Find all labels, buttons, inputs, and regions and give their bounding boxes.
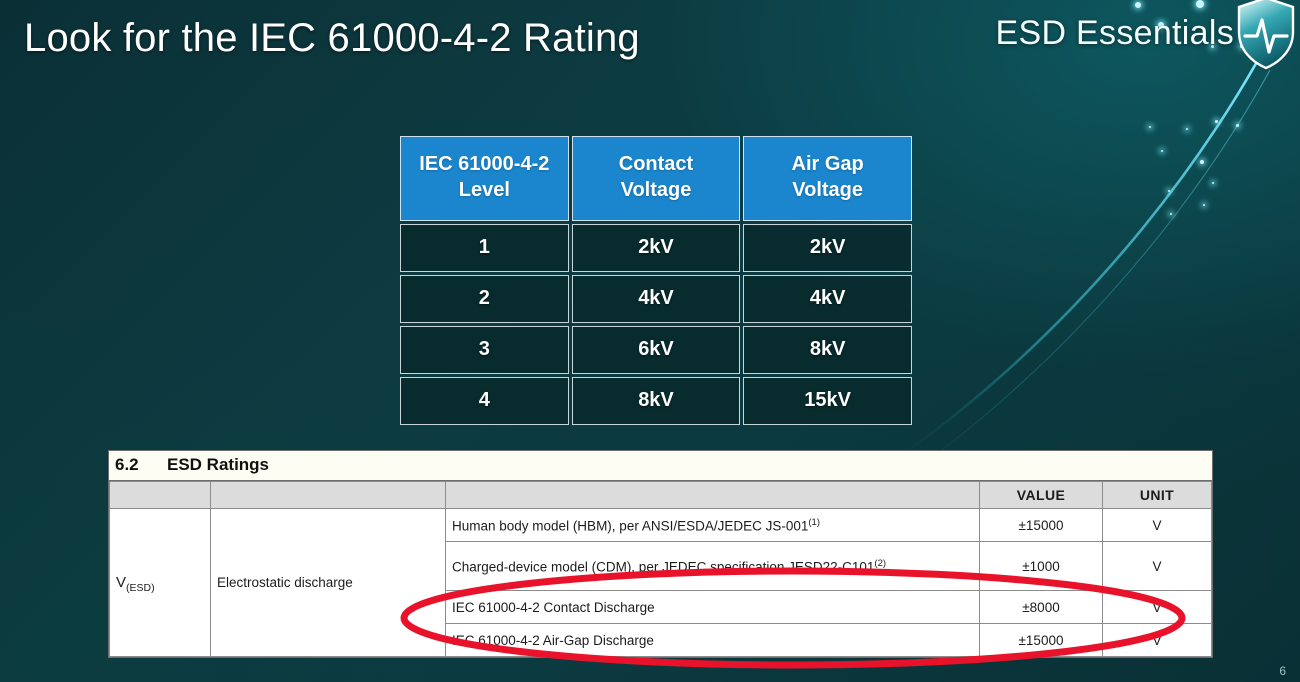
table-row: 2 4kV 4kV — [400, 275, 912, 323]
glow-dot — [1161, 150, 1163, 152]
esd-ratings-table: VALUE UNIT V(ESD) Electrostatic discharg… — [109, 481, 1212, 657]
cell-unit: V — [1103, 591, 1212, 624]
cell-air-gap-voltage: 15kV — [743, 377, 912, 425]
section-number: 6.2 — [115, 455, 167, 475]
cell-value: ±15000 — [980, 509, 1103, 542]
page-number: 6 — [1279, 664, 1286, 678]
cell-contact-voltage: 6kV — [572, 326, 741, 374]
table-row: 1 2kV 2kV — [400, 224, 912, 272]
column-header-level: IEC 61000-4-2 Level — [400, 136, 569, 221]
glow-dot — [1200, 160, 1204, 164]
column-header-contact-voltage: Contact Voltage — [572, 136, 741, 221]
cell-condition: Charged-device model (CDM), per JEDEC sp… — [446, 542, 980, 591]
datasheet-section-heading: 6.2ESD Ratings — [109, 451, 1212, 481]
cell-air-gap-voltage: 8kV — [743, 326, 912, 374]
cell-level: 4 — [400, 377, 569, 425]
cell-level: 3 — [400, 326, 569, 374]
cell-symbol: V(ESD) — [110, 509, 211, 657]
column-header-condition — [446, 482, 980, 509]
footnote-marker: (1) — [808, 517, 820, 528]
table-row: 4 8kV 15kV — [400, 377, 912, 425]
cell-value: ±1000 — [980, 542, 1103, 591]
shield-pulse-icon — [1235, 0, 1297, 70]
datasheet-excerpt: 6.2ESD Ratings VALUE UNIT V(ESD) Electro… — [108, 450, 1213, 658]
footnote-marker: (2) — [874, 558, 886, 569]
cell-value: ±15000 — [980, 624, 1103, 657]
cell-level: 1 — [400, 224, 569, 272]
cell-level: 2 — [400, 275, 569, 323]
cell-condition: IEC 61000-4-2 Air-Gap Discharge — [446, 624, 980, 657]
cell-air-gap-voltage: 4kV — [743, 275, 912, 323]
cell-unit: V — [1103, 509, 1212, 542]
cell-unit: V — [1103, 542, 1212, 591]
column-header-air-gap-voltage: Air Gap Voltage — [743, 136, 912, 221]
glow-dot — [1203, 204, 1205, 206]
table-row: V(ESD) Electrostatic discharge Human bod… — [110, 509, 1212, 542]
glow-dot — [1215, 120, 1218, 123]
iec-level-table: IEC 61000-4-2 Level Contact Voltage Air … — [397, 133, 915, 428]
glow-dot — [1135, 2, 1141, 8]
cell-air-gap-voltage: 2kV — [743, 224, 912, 272]
cell-unit: V — [1103, 624, 1212, 657]
cell-contact-voltage: 8kV — [572, 377, 741, 425]
glow-dot — [1196, 0, 1204, 8]
slide-canvas: Look for the IEC 61000-4-2 Rating ESD Es… — [0, 0, 1300, 682]
page-title: Look for the IEC 61000-4-2 Rating — [24, 16, 640, 61]
symbol-main: V — [116, 574, 126, 591]
cell-condition: Human body model (HBM), per ANSI/ESDA/JE… — [446, 509, 980, 542]
glow-dot — [1149, 126, 1151, 128]
glow-dot — [1212, 182, 1214, 184]
glow-dot — [1186, 128, 1188, 130]
table-header-row: VALUE UNIT — [110, 482, 1212, 509]
table-header-row: IEC 61000-4-2 Level Contact Voltage Air … — [400, 136, 912, 221]
section-title: ESD Ratings — [167, 455, 269, 474]
cell-value: ±8000 — [980, 591, 1103, 624]
cell-condition: IEC 61000-4-2 Contact Discharge — [446, 591, 980, 624]
column-header-unit: UNIT — [1103, 482, 1212, 509]
column-header-symbol — [110, 482, 211, 509]
column-header-parameter — [211, 482, 446, 509]
glow-dot — [1170, 213, 1172, 215]
cell-contact-voltage: 4kV — [572, 275, 741, 323]
table-row: 3 6kV 8kV — [400, 326, 912, 374]
glow-dot — [1236, 124, 1239, 127]
brand-label: ESD Essentials — [995, 14, 1234, 53]
symbol-subscript: (ESD) — [126, 582, 155, 594]
column-header-value: VALUE — [980, 482, 1103, 509]
cell-contact-voltage: 2kV — [572, 224, 741, 272]
cell-parameter: Electrostatic discharge — [211, 509, 446, 657]
glow-dot — [1168, 190, 1170, 192]
